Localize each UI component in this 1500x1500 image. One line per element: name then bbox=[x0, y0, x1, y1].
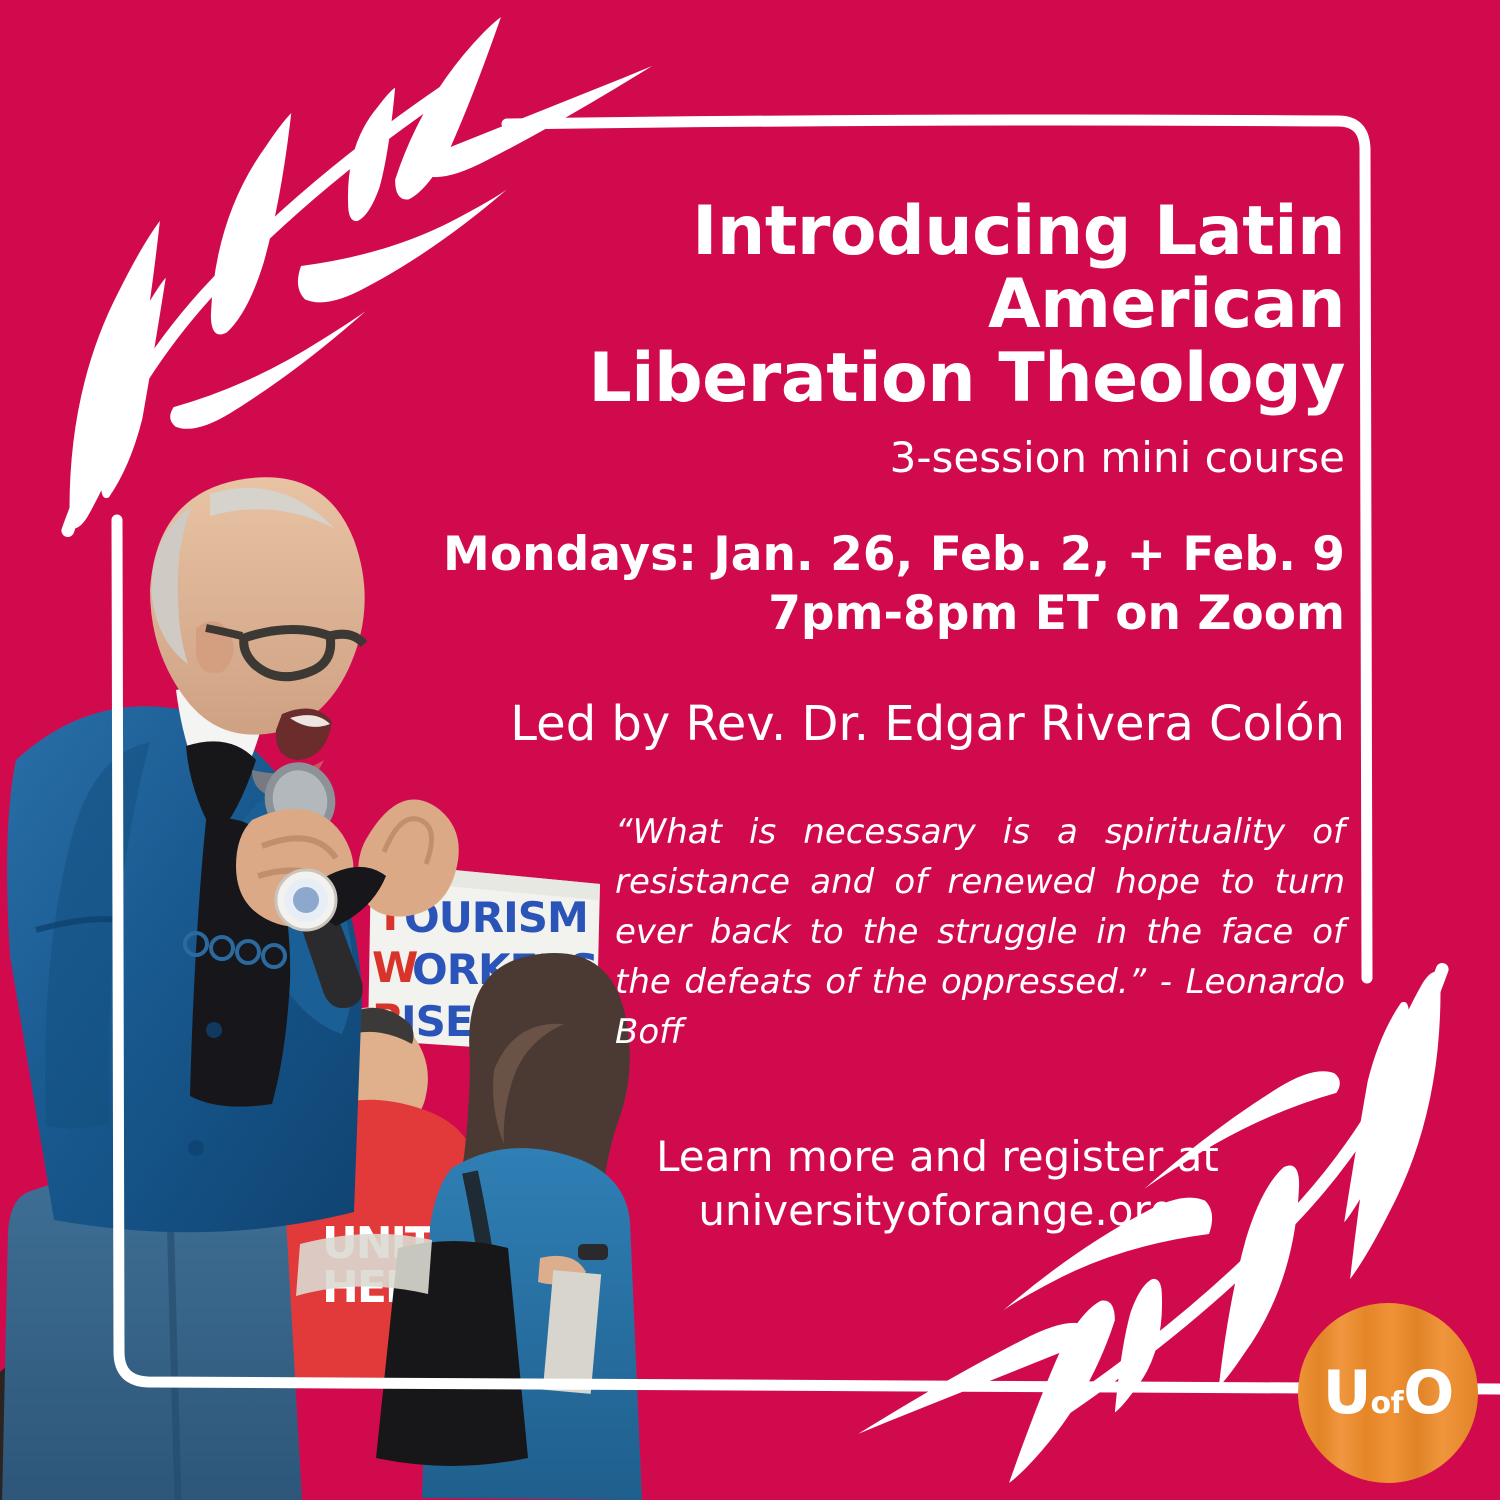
quote-text: “What is necessary is a spirituality of … bbox=[615, 808, 1345, 1058]
logo-letter-u: U bbox=[1323, 1363, 1371, 1423]
logo-letter-of: of bbox=[1371, 1389, 1404, 1419]
session-dates: Mondays: Jan. 26, Feb. 2, + Feb. 9 7pm-8… bbox=[380, 526, 1345, 644]
page-title: Introducing Latin American Liberation Th… bbox=[380, 195, 1345, 415]
registration-url[interactable]: universityoforange.org bbox=[698, 1186, 1176, 1235]
logo-wordmark: UofO bbox=[1323, 1363, 1453, 1423]
poster-text-content: Introducing Latin American Liberation Th… bbox=[380, 195, 1345, 1239]
logo-letter-o: O bbox=[1403, 1363, 1453, 1423]
call-to-action: Learn more and register at universityofo… bbox=[380, 1130, 1345, 1239]
quote-block: “What is necessary is a spirituality of … bbox=[380, 808, 1345, 1058]
uofo-logo[interactable]: UofO bbox=[1298, 1303, 1478, 1483]
dates-line-2: 7pm-8pm ET on Zoom bbox=[768, 586, 1345, 641]
dates-line-1: Mondays: Jan. 26, Feb. 2, + Feb. 9 bbox=[443, 527, 1345, 582]
cta-line-1: Learn more and register at bbox=[656, 1132, 1219, 1181]
title-line-2: Liberation Theology bbox=[588, 339, 1345, 418]
poster-canvas: T OURISM W ORKERS R ISE UNITE HERE bbox=[0, 0, 1500, 1500]
title-line-1: Introducing Latin American bbox=[692, 192, 1345, 344]
course-subtitle: 3-session mini course bbox=[380, 433, 1345, 482]
presenter-name: Led by Rev. Dr. Edgar Rivera Colón bbox=[380, 696, 1345, 752]
